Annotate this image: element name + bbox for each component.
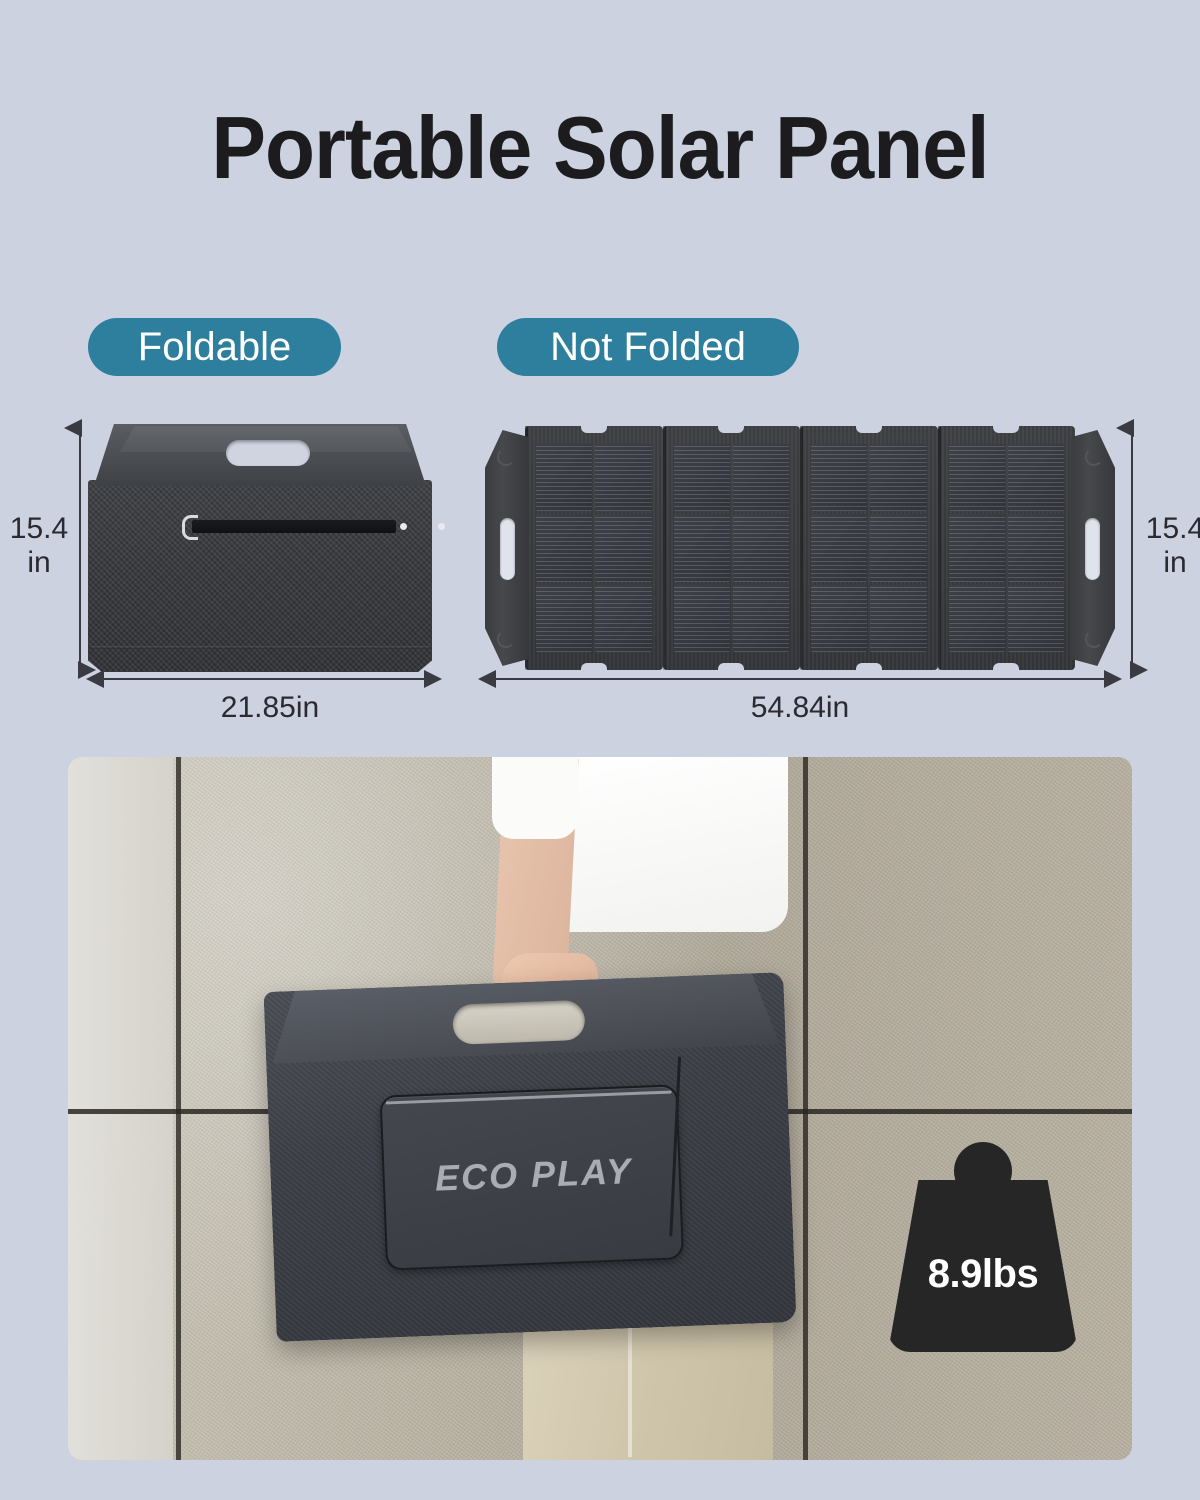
case-grommet (400, 523, 407, 530)
solar-cell-grid (536, 444, 652, 652)
case-body (88, 480, 432, 672)
solar-cell (536, 585, 592, 652)
solar-cell (733, 514, 789, 581)
solar-cell (733, 444, 789, 511)
unfolded-width-label: 54.84in (690, 691, 910, 725)
tile-grout-line (176, 757, 181, 1460)
case-zipper-pull-icon (182, 515, 198, 540)
panel-fold (938, 426, 1076, 670)
brand-logo: ECO PLAY (384, 1148, 683, 1201)
handle-slot (1085, 518, 1100, 580)
unfolded-height-label: 15.4 in (1142, 512, 1200, 579)
rivet-arc-icon (1085, 630, 1103, 648)
unfolded-width-arrow (484, 668, 1116, 690)
solar-cell (870, 514, 926, 581)
person-sleeve (492, 757, 578, 839)
solar-cell (1008, 444, 1064, 511)
case-grommet (438, 523, 445, 530)
carrying-case: ECO PLAY (263, 972, 796, 1342)
solar-cell (811, 444, 867, 511)
fold-notch (856, 425, 882, 433)
panel-side-handle-left (485, 430, 529, 666)
panel-fold (663, 426, 801, 670)
pocket-zipper (386, 1091, 672, 1105)
badge-not-folded: Not Folded (497, 318, 799, 376)
panel-side-handle-right (1071, 430, 1115, 666)
folded-height-value: 15.4 (6, 512, 72, 546)
solar-cell (870, 444, 926, 511)
case-seam (90, 646, 430, 649)
folded-height-label: 15.4 in (6, 512, 72, 579)
panel-fold (525, 426, 663, 670)
case-zipper (192, 520, 396, 533)
panel-fold (800, 426, 938, 670)
solar-cell (674, 444, 730, 511)
solar-cell (870, 585, 926, 652)
solar-cell (1008, 585, 1064, 652)
folded-width-label: 21.85in (160, 691, 380, 725)
solar-cell (811, 585, 867, 652)
solar-cell (949, 514, 1005, 581)
solar-cell (733, 585, 789, 652)
panel-fold-group (525, 426, 1075, 670)
folded-height-unit: in (6, 546, 72, 580)
solar-cell (949, 585, 1005, 652)
unfolded-height-value: 15.4 (1142, 512, 1200, 546)
rivet-arc-icon (1085, 448, 1103, 466)
fold-notch (993, 425, 1019, 433)
unfolded-height-unit: in (1142, 546, 1200, 580)
solar-cell (674, 514, 730, 581)
case-lid (94, 424, 426, 486)
solar-cell (595, 585, 651, 652)
solar-cell (811, 514, 867, 581)
solar-cell (536, 514, 592, 581)
solar-cell-grid (949, 444, 1065, 652)
unfolded-panel-illustration (485, 424, 1115, 672)
case-handle-slot (226, 440, 310, 466)
handle-slot (500, 518, 515, 580)
solar-cell (595, 444, 651, 511)
rivet-arc-icon (497, 448, 515, 466)
carrying-case-handle (452, 1000, 585, 1045)
unfolded-height-arrow (1120, 418, 1144, 680)
solar-cell-grid (811, 444, 927, 652)
weight-value: 8.9lbs (888, 1252, 1078, 1297)
fold-notch (718, 425, 744, 433)
product-lifestyle-photo: ECO PLAY 8.9lbs (68, 757, 1132, 1460)
fold-notch (581, 425, 607, 433)
solar-cell (1008, 514, 1064, 581)
folded-width-arrow (92, 668, 436, 690)
tile-grout-line (803, 757, 808, 1460)
weight-badge: 8.9lbs (888, 1142, 1078, 1352)
solar-cell (595, 514, 651, 581)
page-title: Portable Solar Panel (42, 104, 1158, 192)
solar-cell-grid (674, 444, 790, 652)
badge-foldable: Foldable (88, 318, 341, 376)
front-zip-pocket: ECO PLAY (380, 1084, 684, 1270)
solar-cell (536, 444, 592, 511)
solar-cell (674, 585, 730, 652)
solar-cell (949, 444, 1005, 511)
folded-case-illustration (88, 424, 432, 672)
rivet-arc-icon (497, 630, 515, 648)
